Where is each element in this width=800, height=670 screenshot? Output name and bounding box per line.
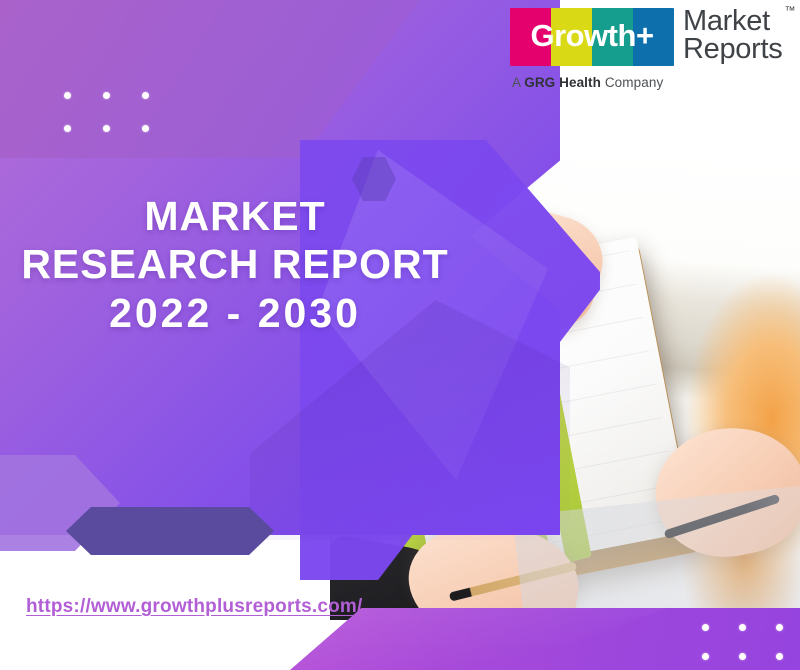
dot — [776, 624, 783, 631]
dot — [64, 92, 71, 99]
logo-tagline: A GRG Health Company — [512, 75, 663, 90]
dot — [103, 92, 110, 99]
dot — [739, 653, 746, 660]
logo-wordmark-growth-plus: Growth+ — [510, 8, 674, 66]
dot — [776, 653, 783, 660]
tagline-prefix: A — [512, 75, 524, 90]
logo-primary-row: Growth+ Market Reports ™ — [510, 8, 782, 66]
dot — [739, 624, 746, 631]
brand-logo[interactable]: Growth+ Market Reports ™ A GRG Health Co… — [510, 8, 786, 90]
logo-name-market: Market — [683, 8, 782, 36]
title-line-3-years: 2022 - 2030 — [0, 289, 470, 337]
growth-plus-colorblock-mark: Growth+ — [510, 8, 674, 66]
dot — [142, 125, 149, 132]
dot — [702, 653, 709, 660]
logo-name-reports: Reports — [683, 36, 782, 64]
dot — [64, 125, 71, 132]
dot — [103, 125, 110, 132]
title-line-1: MARKET — [0, 192, 470, 240]
tagline-suffix: Company — [601, 75, 663, 90]
dot — [702, 624, 709, 631]
dot — [142, 92, 149, 99]
title-line-2: RESEARCH REPORT — [0, 240, 470, 288]
page-title: MARKET RESEARCH REPORT 2022 - 2030 — [0, 192, 470, 337]
logo-name-stack: Market Reports ™ — [683, 8, 782, 64]
website-url-link[interactable]: https://www.growthplusreports.com/ — [26, 596, 363, 618]
hexagon-dark-band — [66, 507, 274, 555]
tagline-company-name: GRG Health — [524, 75, 601, 90]
report-cover-canvas: MARKET RESEARCH REPORT 2022 - 2030 https… — [0, 0, 800, 670]
trademark-icon: ™ — [784, 6, 795, 17]
dot-grid-top-left — [64, 92, 149, 132]
dot-grid-bottom-right — [702, 624, 783, 660]
